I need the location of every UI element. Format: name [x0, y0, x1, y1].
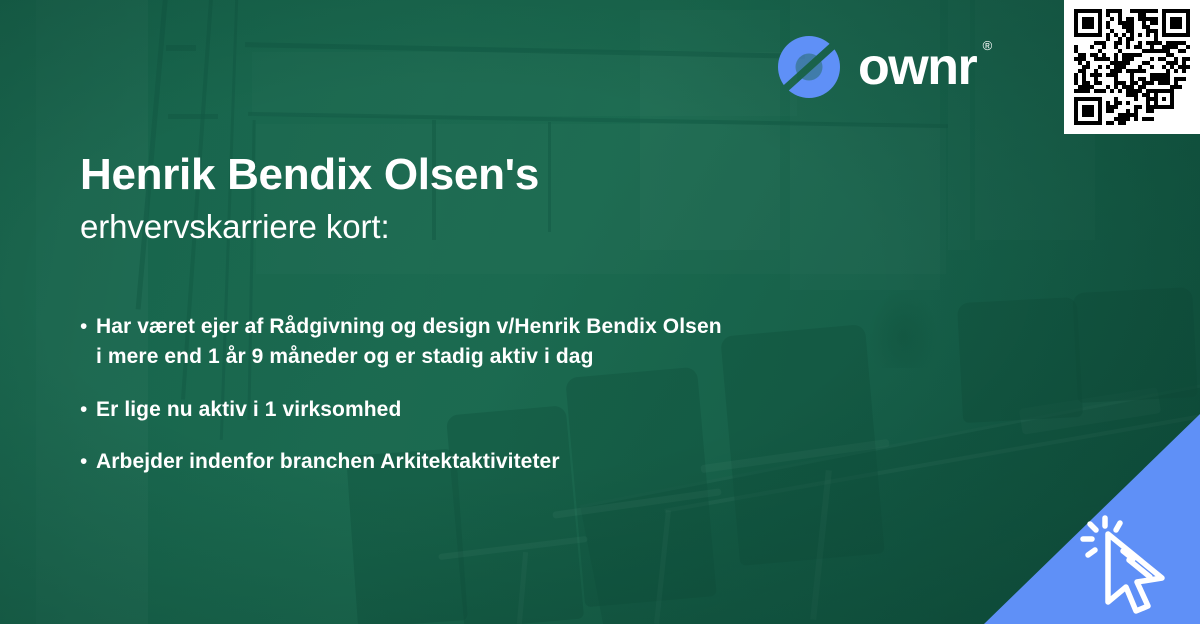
- list-item-label: Arbejder indenfor branchen Arkitektaktiv…: [96, 447, 560, 477]
- list-item-label: Er lige nu aktiv i 1 virksomhed: [96, 395, 401, 425]
- click-cursor-icon: [1078, 512, 1190, 616]
- ownr-wordmark: ownr®: [858, 41, 976, 93]
- page-title: Henrik Bendix Olsen's: [80, 150, 960, 199]
- registered-mark: ®: [983, 39, 993, 52]
- career-card: ownr® Henrik Bendix Olsen's erhvervskarr…: [0, 0, 1200, 624]
- list-item: •Er lige nu aktiv i 1 virksomhed: [80, 395, 980, 425]
- qr-code-grid: [1074, 9, 1190, 125]
- headline-block: Henrik Bendix Olsen's erhvervskarriere k…: [80, 150, 960, 247]
- career-facts-list: •Har været ejer af Rådgivning og design …: [80, 312, 980, 478]
- ownr-circle-mark: [776, 34, 842, 100]
- ownr-wordmark-text: ownr: [858, 38, 976, 96]
- qr-code[interactable]: [1064, 0, 1200, 134]
- list-item: •Har været ejer af Rådgivning og design …: [80, 312, 980, 373]
- page-subtitle: erhvervskarriere kort:: [80, 207, 960, 247]
- ownr-logo[interactable]: ownr®: [776, 34, 976, 100]
- bullet-marker-icon: •: [80, 395, 96, 425]
- list-item: •Arbejder indenfor branchen Arkitektakti…: [80, 447, 980, 477]
- list-item-label: Har været ejer af Rådgivning og design v…: [96, 312, 722, 373]
- bullet-marker-icon: •: [80, 447, 96, 477]
- bullet-marker-icon: •: [80, 312, 96, 342]
